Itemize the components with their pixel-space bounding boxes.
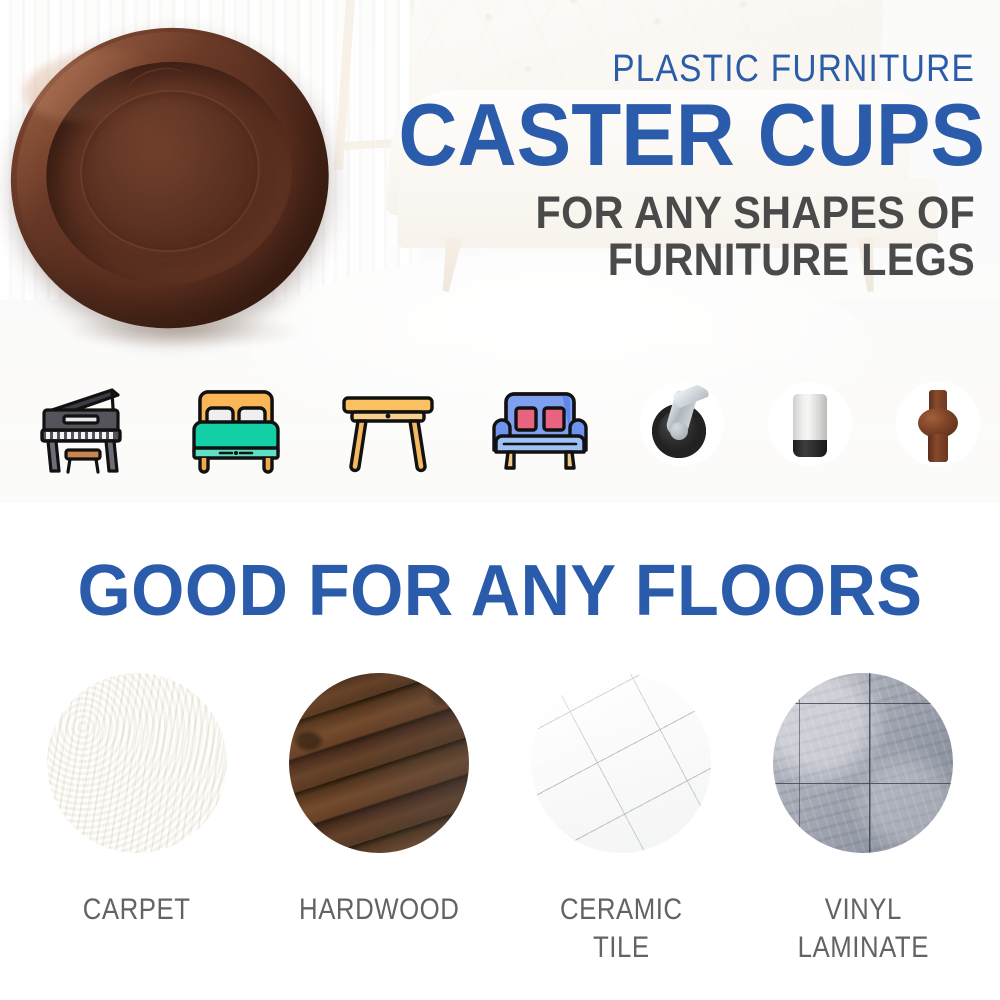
ceramic-tile-label-line1: CERAMIC [560,891,683,929]
furniture-icon-row [34,375,574,475]
hero-section: PLASTIC FURNITURE CASTER CUPS FOR ANY SH… [0,0,1000,503]
headline-subtitle-line2: FURNITURE LEGS [405,237,975,284]
headline-eyebrow: PLASTIC FURNITURE [429,50,975,88]
leg-type-badge-row [640,382,980,474]
floors-title: GOOD FOR ANY FLOORS [25,550,975,632]
bed-icon [186,380,286,475]
hardwood-label-line1: HARDWOOD [299,891,459,929]
floors-section: GOOD FOR ANY FLOORS CARPET HARDWOOD [0,503,1000,1000]
headline-block: PLASTIC FURNITURE CASTER CUPS FOR ANY SH… [355,50,975,284]
vinyl-laminate-label: VINYL LAMINATE [797,891,928,968]
page-title: CASTER CUPS [398,92,975,178]
wood-leg-badge [896,382,980,466]
floor-item-vinyl-laminate: VINYL LAMINATE [763,673,963,968]
cylinder-leg-badge [768,382,852,466]
hardwood-swatch [289,673,469,853]
caster-cup-product-photo [8,18,338,368]
product-infographic: PLASTIC FURNITURE CASTER CUPS FOR ANY SH… [0,0,1000,1000]
piano-icon [34,380,134,475]
headline-subtitle-line1: FOR ANY SHAPES OF [405,190,975,237]
floor-item-carpet: CARPET [37,673,237,968]
ceramic-tile-swatch [531,673,711,853]
carpet-label-line1: CARPET [83,891,191,929]
hardwood-label: HARDWOOD [299,891,459,929]
ceramic-tile-label-line2: TILE [560,929,683,967]
floor-item-ceramic-tile: CERAMIC TILE [521,673,721,968]
table-icon [338,380,438,475]
ceramic-tile-label: CERAMIC TILE [560,891,683,968]
sofa-icon [490,380,590,475]
vinyl-laminate-label-line2: LAMINATE [797,929,928,967]
vinyl-laminate-swatch [773,673,953,853]
floor-item-hardwood: HARDWOOD [279,673,479,968]
carpet-swatch [47,673,227,853]
vinyl-laminate-label-line1: VINYL [797,891,928,929]
floor-type-grid: CARPET HARDWOOD CERAMIC TILE [0,673,1000,968]
headline-subtitle: FOR ANY SHAPES OF FURNITURE LEGS [405,190,975,284]
caster-wheel-badge [640,382,724,466]
carpet-label: CARPET [83,891,191,929]
